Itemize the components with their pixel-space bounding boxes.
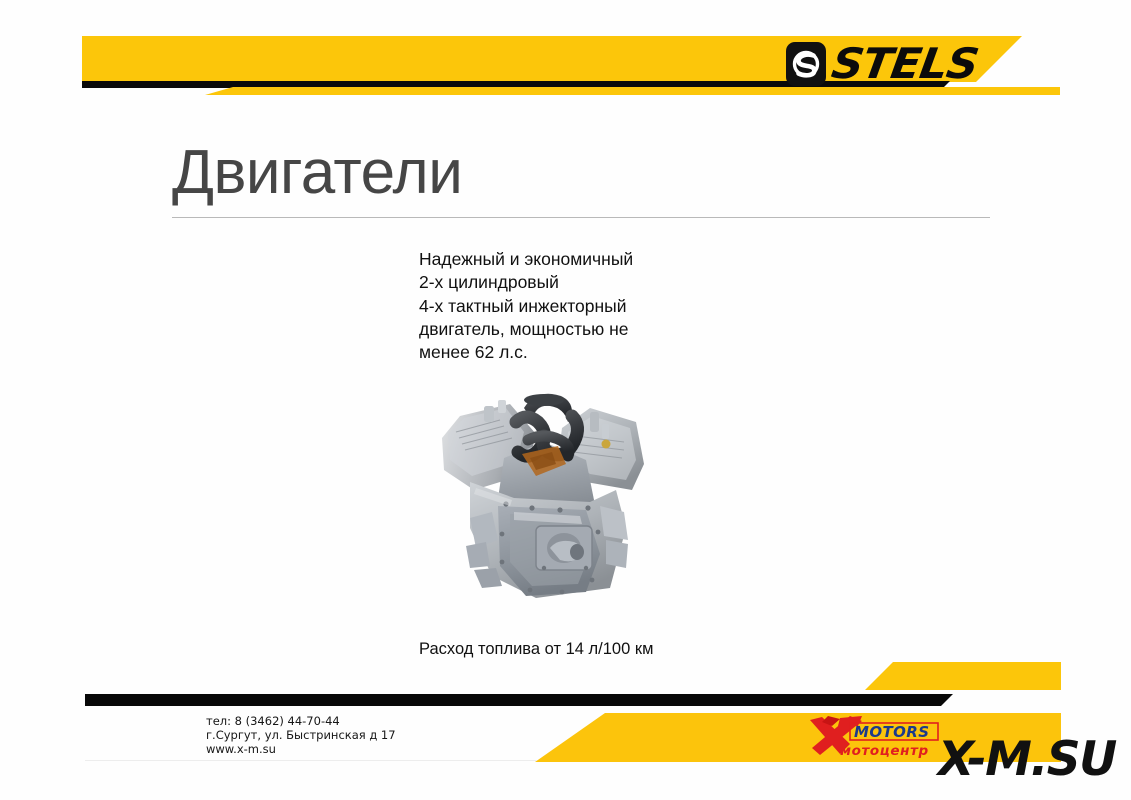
stels-s-badge-icon: [786, 42, 826, 86]
description-line: 2-х цилиндровый: [419, 271, 633, 294]
header-yellow-thin-band: [205, 87, 1060, 95]
x-motors-logo: MOTORS мотоцентр: [806, 714, 940, 758]
x-motors-subtitle: мотоцентр: [840, 743, 929, 758]
stels-logo: STELS: [786, 40, 975, 88]
slide-canvas: STELS Двигатели Надежный и экономичный 2…: [0, 0, 1131, 800]
page-title: Двигатели: [172, 140, 462, 205]
site-watermark: X-M.SU: [938, 736, 1116, 783]
title-divider: [172, 217, 990, 218]
footer-hairline: [85, 760, 537, 761]
stels-wordmark: STELS: [829, 43, 981, 85]
contact-website[interactable]: www.x-m.su: [206, 742, 396, 756]
description-line: 4-х тактный инжекторный: [419, 295, 633, 318]
description-line: менее 62 л.с.: [419, 341, 633, 364]
contact-phone: тел: 8 (3462) 44-70-44: [206, 714, 396, 728]
description-text: Надежный и экономичный 2-х цилиндровый 4…: [419, 248, 633, 364]
description-line: Надежный и экономичный: [419, 248, 633, 271]
contact-info: тел: 8 (3462) 44-70-44 г.Сургут, ул. Быс…: [206, 714, 396, 757]
footer-yellow-accent-band: [865, 662, 1061, 690]
description-line: двигатель, мощностью не: [419, 318, 633, 341]
contact-address: г.Сургут, ул. Быстринская д 17: [206, 728, 396, 742]
footer-black-band: [85, 694, 953, 706]
fuel-consumption-note: Расход топлива от 14 л/100 км: [419, 640, 653, 659]
engine-photo: [440, 378, 646, 600]
x-motors-wordmark: MOTORS: [854, 723, 929, 741]
